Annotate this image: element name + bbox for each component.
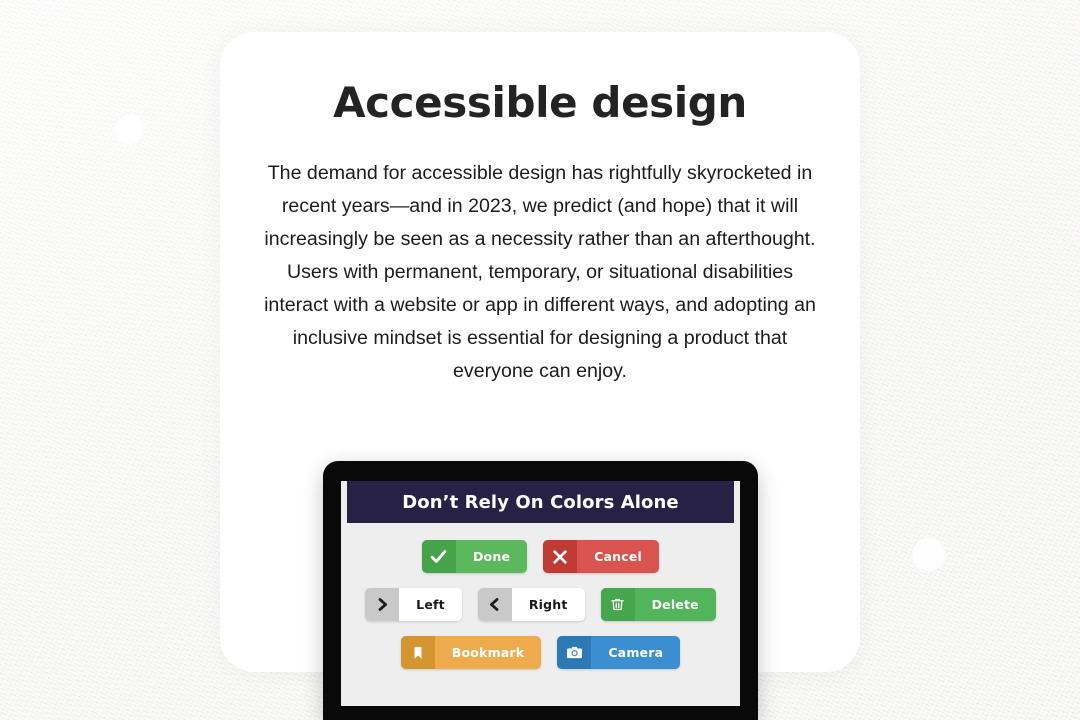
app-header-bar: Don’t Rely On Colors Alone <box>347 481 734 523</box>
button-row-1: Done Cancel <box>422 540 659 573</box>
page-title: Accessible design <box>220 78 860 127</box>
app-header-title: Don’t Rely On Colors Alone <box>402 492 679 513</box>
check-icon <box>422 540 456 573</box>
left-button[interactable]: Left <box>365 588 462 621</box>
right-button-label: Right <box>512 588 585 621</box>
tablet-mockup: Don’t Rely On Colors Alone Done <box>323 461 758 720</box>
cancel-button[interactable]: Cancel <box>543 540 659 573</box>
camera-icon <box>557 636 591 669</box>
close-icon <box>543 540 577 573</box>
left-button-label: Left <box>399 588 462 621</box>
chevron-left-icon <box>478 588 512 621</box>
done-button[interactable]: Done <box>422 540 527 573</box>
body-paragraph: The demand for accessible design has rig… <box>256 157 824 388</box>
delete-button-label: Delete <box>635 588 716 621</box>
right-button[interactable]: Right <box>478 588 585 621</box>
done-button-label: Done <box>456 540 527 573</box>
cancel-button-label: Cancel <box>577 540 659 573</box>
bookmark-button[interactable]: Bookmark <box>401 636 542 669</box>
tablet-screen: Don’t Rely On Colors Alone Done <box>341 481 740 706</box>
bookmark-icon <box>401 636 435 669</box>
camera-button-label: Camera <box>591 636 680 669</box>
trash-icon <box>601 588 635 621</box>
chevron-right-icon <box>365 588 399 621</box>
bookmark-button-label: Bookmark <box>435 636 542 669</box>
button-row-3: Bookmark Camera <box>401 636 680 669</box>
camera-button[interactable]: Camera <box>557 636 680 669</box>
delete-button[interactable]: Delete <box>601 588 716 621</box>
button-row-2: Left Right <box>365 588 716 621</box>
button-grid: Done Cancel <box>341 523 740 706</box>
